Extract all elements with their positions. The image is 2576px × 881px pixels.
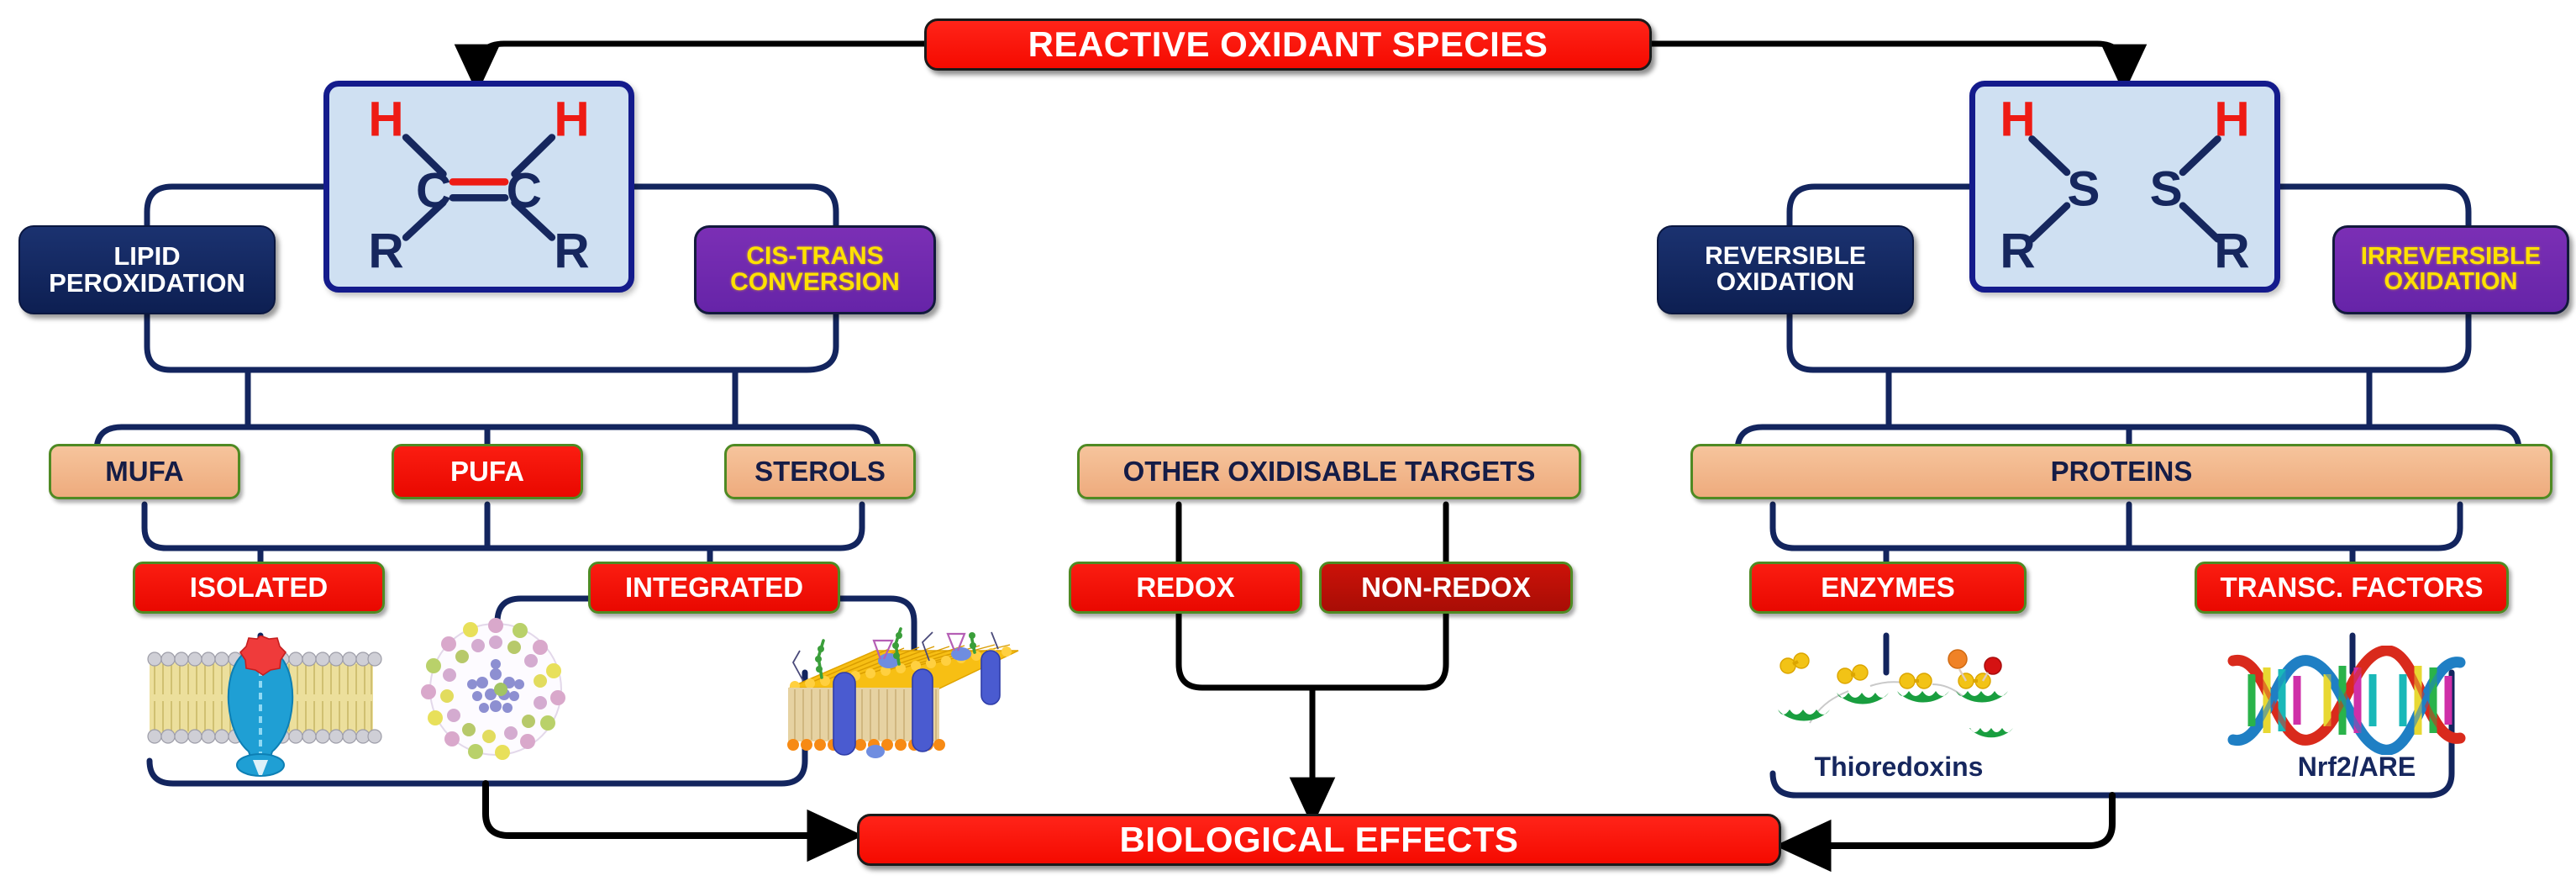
state-isolated-label: ISOLATED (190, 573, 328, 602)
svg-text:H: H (2214, 92, 2249, 147)
target-mufa[interactable]: MUFA (49, 444, 240, 499)
reversible-oxidation-box[interactable]: REVERSIBLE OXIDATION (1657, 225, 1914, 314)
dithiol-structure: H H S S R R (1975, 87, 2274, 287)
svg-text:C: C (416, 164, 451, 219)
target-pufa[interactable]: PUFA (392, 444, 583, 499)
center-redox-label: REDOX (1136, 573, 1234, 602)
dithiol-molecule-box: H H S S R R (1969, 81, 2280, 293)
state-integrated[interactable]: INTEGRATED (588, 562, 840, 614)
target-sterols[interactable]: STEROLS (724, 444, 916, 499)
lipid-peroxidation-box[interactable]: LIPID PEROXIDATION (18, 225, 276, 314)
thioredoxins-caption-text: Thioredoxins (1815, 752, 1984, 782)
nrf2-are-caption-text: Nrf2/ARE (2298, 752, 2416, 782)
svg-text:R: R (2214, 224, 2249, 278)
proteins-box[interactable]: PROTEINS (1690, 444, 2552, 499)
alkene-structure: H H C C R R (329, 87, 628, 287)
cis-trans-conversion-label: CIS-TRANS CONVERSION (697, 244, 933, 296)
target-pufa-label: PUFA (450, 457, 524, 486)
proteins-label: PROTEINS (2051, 457, 2193, 486)
diagram-canvas: REACTIVE OXIDANT SPECIES H H C C R R (0, 0, 2576, 881)
svg-text:H: H (554, 92, 589, 147)
dna-double-helix-icon (2226, 646, 2479, 755)
center-redox-box[interactable]: REDOX (1069, 562, 1302, 614)
target-mufa-label: MUFA (105, 457, 184, 486)
nrf2-are-caption: Nrf2/ARE (2235, 752, 2479, 783)
svg-text:R: R (554, 224, 589, 278)
lipid-peroxidation-label: LIPID PEROXIDATION (20, 243, 274, 297)
title-text: REACTIVE OXIDANT SPECIES (1028, 26, 1548, 62)
enzymes-label: ENZYMES (1821, 573, 1955, 602)
svg-text:H: H (2000, 92, 2035, 147)
reversible-oxidation-label: REVERSIBLE OXIDATION (1659, 244, 1912, 296)
irreversible-oxidation-label: IRREVERSIBLE OXIDATION (2335, 245, 2567, 295)
svg-text:S: S (2150, 162, 2183, 217)
alkene-molecule-box: H H C C R R (323, 81, 634, 293)
state-integrated-label: INTEGRATED (625, 573, 803, 602)
cis-trans-conversion-box[interactable]: CIS-TRANS CONVERSION (694, 225, 936, 314)
biological-effects-banner: BIOLOGICAL EFFECTS (857, 814, 1781, 866)
state-isolated[interactable]: ISOLATED (133, 562, 385, 614)
enzymes-box[interactable]: ENZYMES (1749, 562, 2027, 614)
svg-text:R: R (368, 224, 403, 278)
biological-effects-text: BIOLOGICAL EFFECTS (1120, 821, 1519, 857)
membrane-3d-proteins-icon (781, 622, 1025, 782)
svg-text:H: H (368, 92, 403, 147)
svg-text:R: R (2000, 224, 2035, 278)
center-non-redox-box[interactable]: NON-REDOX (1319, 562, 1573, 614)
svg-text:S: S (2067, 162, 2100, 217)
transc-factors-box[interactable]: TRANSC. FACTORS (2195, 562, 2509, 614)
lipid-bilayer-channel-icon (134, 636, 386, 783)
transc-factors-label: TRANSC. FACTORS (2221, 573, 2484, 602)
target-sterols-label: STEROLS (754, 457, 886, 486)
svg-text:C: C (507, 164, 542, 219)
center-non-redox-label: NON-REDOX (1361, 573, 1531, 602)
thioredoxins-caption: Thioredoxins (1773, 752, 2025, 783)
irreversible-oxidation-box[interactable]: IRREVERSIBLE OXIDATION (2332, 225, 2569, 314)
other-oxidisable-targets-box[interactable]: OTHER OXIDISABLE TARGETS (1077, 444, 1581, 499)
other-oxidisable-targets-label: OTHER OXIDISABLE TARGETS (1123, 457, 1536, 486)
title-banner: REACTIVE OXIDANT SPECIES (924, 18, 1652, 71)
liposome-vesicle-icon (420, 614, 571, 765)
enzyme-catalysis-icon (1771, 647, 2023, 757)
